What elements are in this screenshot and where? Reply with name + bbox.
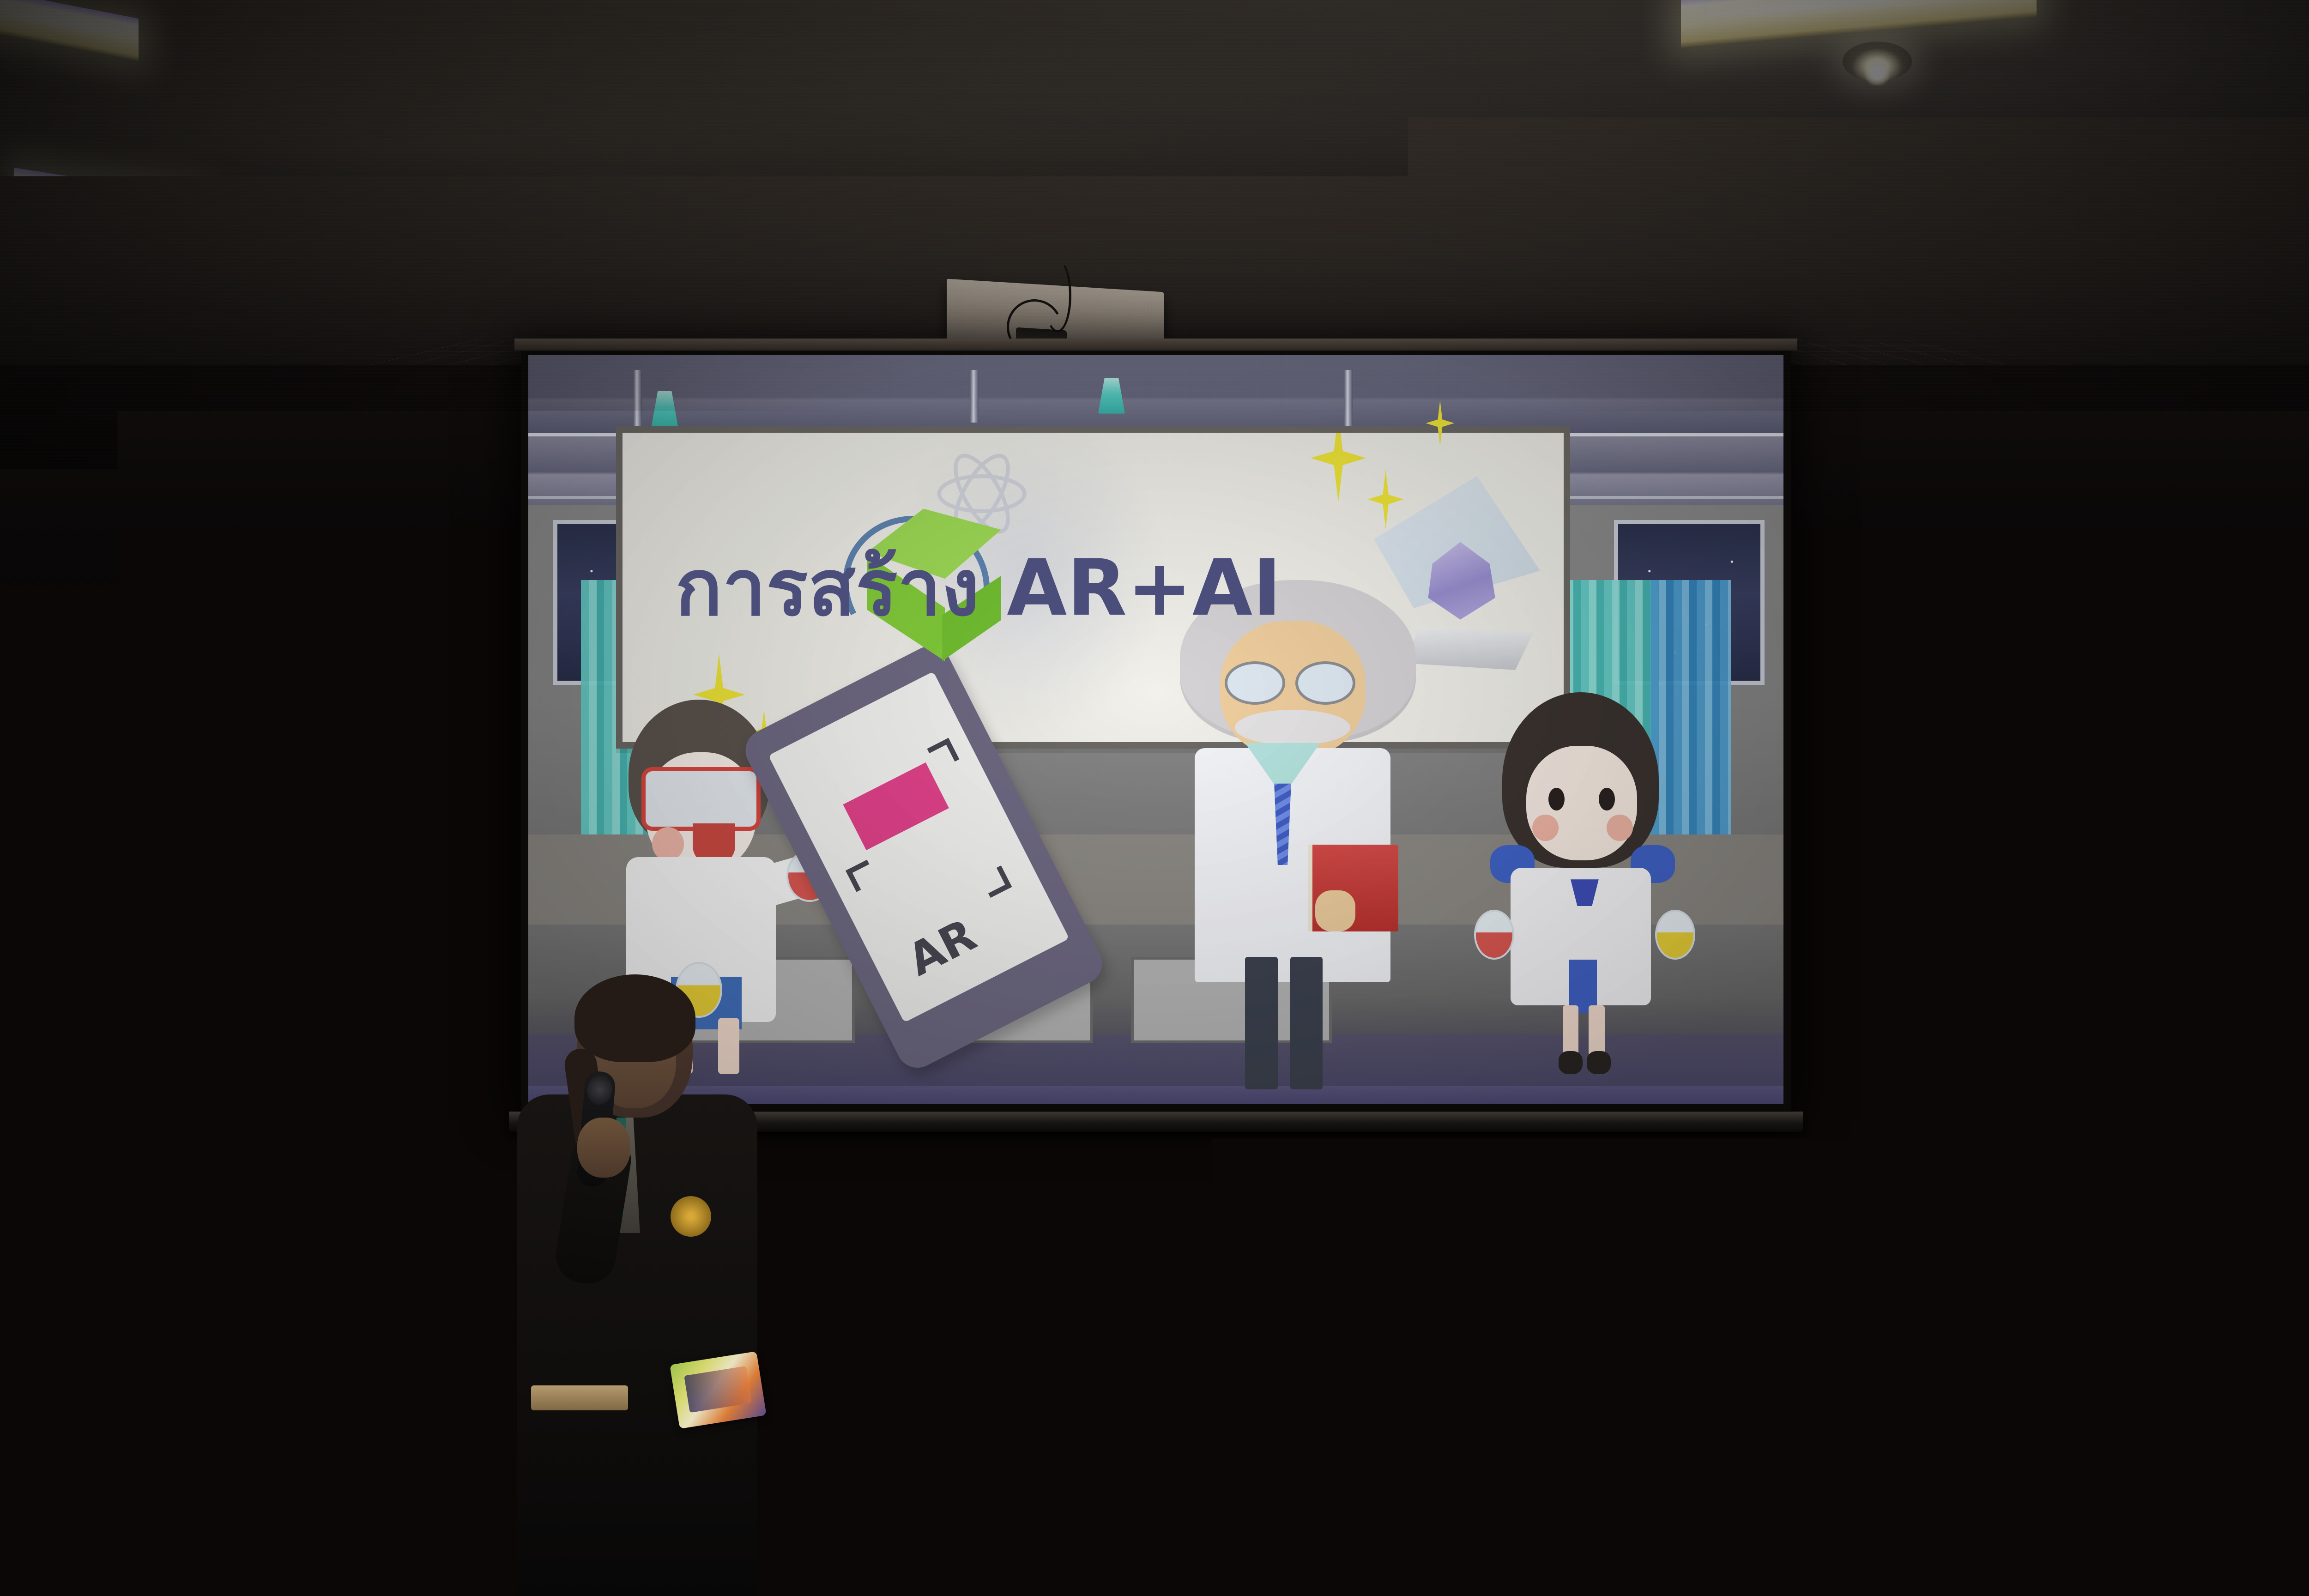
ceiling-speaker bbox=[2226, 175, 2252, 231]
professor-glasses bbox=[1295, 661, 1355, 705]
recessed-downlight bbox=[323, 277, 393, 317]
screenshot-root: การสร้าง AR+AI bbox=[0, 0, 2309, 1596]
audience-front-left bbox=[0, 1307, 434, 1596]
fluorescent-troffer bbox=[1709, 157, 2023, 235]
audience-right-b bbox=[2069, 1261, 2309, 1596]
girl-face bbox=[1526, 746, 1637, 860]
professor-trousers bbox=[1290, 957, 1323, 1089]
character-professor-scientist bbox=[1175, 580, 1426, 1089]
fluorescent-troffer bbox=[14, 168, 208, 247]
girl-shoe bbox=[1587, 1051, 1611, 1074]
projector-cable bbox=[1044, 259, 1071, 332]
girl-cheek bbox=[1532, 815, 1559, 841]
audience-shoulders bbox=[0, 1413, 434, 1596]
fluorescent-troffer bbox=[0, 0, 139, 61]
ceiling-speaker bbox=[89, 202, 115, 258]
presenter-school-badge bbox=[671, 1196, 711, 1237]
boy-goggles bbox=[641, 767, 761, 831]
ar-marker-card[interactable] bbox=[670, 1351, 767, 1429]
girl-eye bbox=[1599, 788, 1615, 811]
professor-mustache bbox=[1235, 710, 1350, 745]
character-girl-scientist bbox=[1482, 692, 1683, 1074]
girl-leg bbox=[1563, 1005, 1579, 1055]
ar-corner-bracket-icon bbox=[979, 865, 1012, 898]
audience-head bbox=[1676, 1275, 1875, 1515]
ar-marker-rect bbox=[843, 763, 949, 850]
slide-title: การสร้าง AR+AI bbox=[675, 526, 1281, 649]
fluorescent-troffer bbox=[1681, 0, 2037, 48]
flask-red bbox=[1474, 910, 1514, 960]
audience-head bbox=[2124, 1261, 2309, 1519]
girl-leg bbox=[1589, 1005, 1605, 1055]
presenter-hair bbox=[574, 974, 695, 1062]
girl-eye bbox=[1548, 788, 1565, 811]
girl-cheek bbox=[1607, 815, 1633, 841]
ceiling-air-vent bbox=[785, 194, 873, 223]
boy-cheek bbox=[652, 827, 684, 861]
audience-shoulders bbox=[1602, 1482, 1972, 1596]
recessed-downlight bbox=[1755, 286, 1824, 326]
recessed-downlight bbox=[1843, 42, 1912, 81]
recessed-downlight bbox=[521, 266, 590, 305]
audience-shoulders bbox=[2083, 1492, 2309, 1596]
audience-right-a bbox=[1561, 1275, 2013, 1596]
professor-hand bbox=[1315, 890, 1355, 931]
girl-shoe bbox=[1559, 1051, 1583, 1074]
ar-corner-bracket-icon bbox=[846, 860, 878, 892]
presenter-blazer bbox=[517, 1094, 757, 1596]
ar-corner-bracket-icon bbox=[927, 738, 959, 770]
ar-label: AR bbox=[900, 909, 984, 986]
presenter-hand bbox=[577, 1118, 630, 1178]
sparkle-icon bbox=[1311, 433, 1366, 502]
flask-yellow bbox=[1655, 910, 1695, 960]
lab-pipe bbox=[970, 370, 979, 423]
professor-glasses bbox=[1225, 661, 1285, 705]
professor-trousers bbox=[1245, 957, 1278, 1089]
